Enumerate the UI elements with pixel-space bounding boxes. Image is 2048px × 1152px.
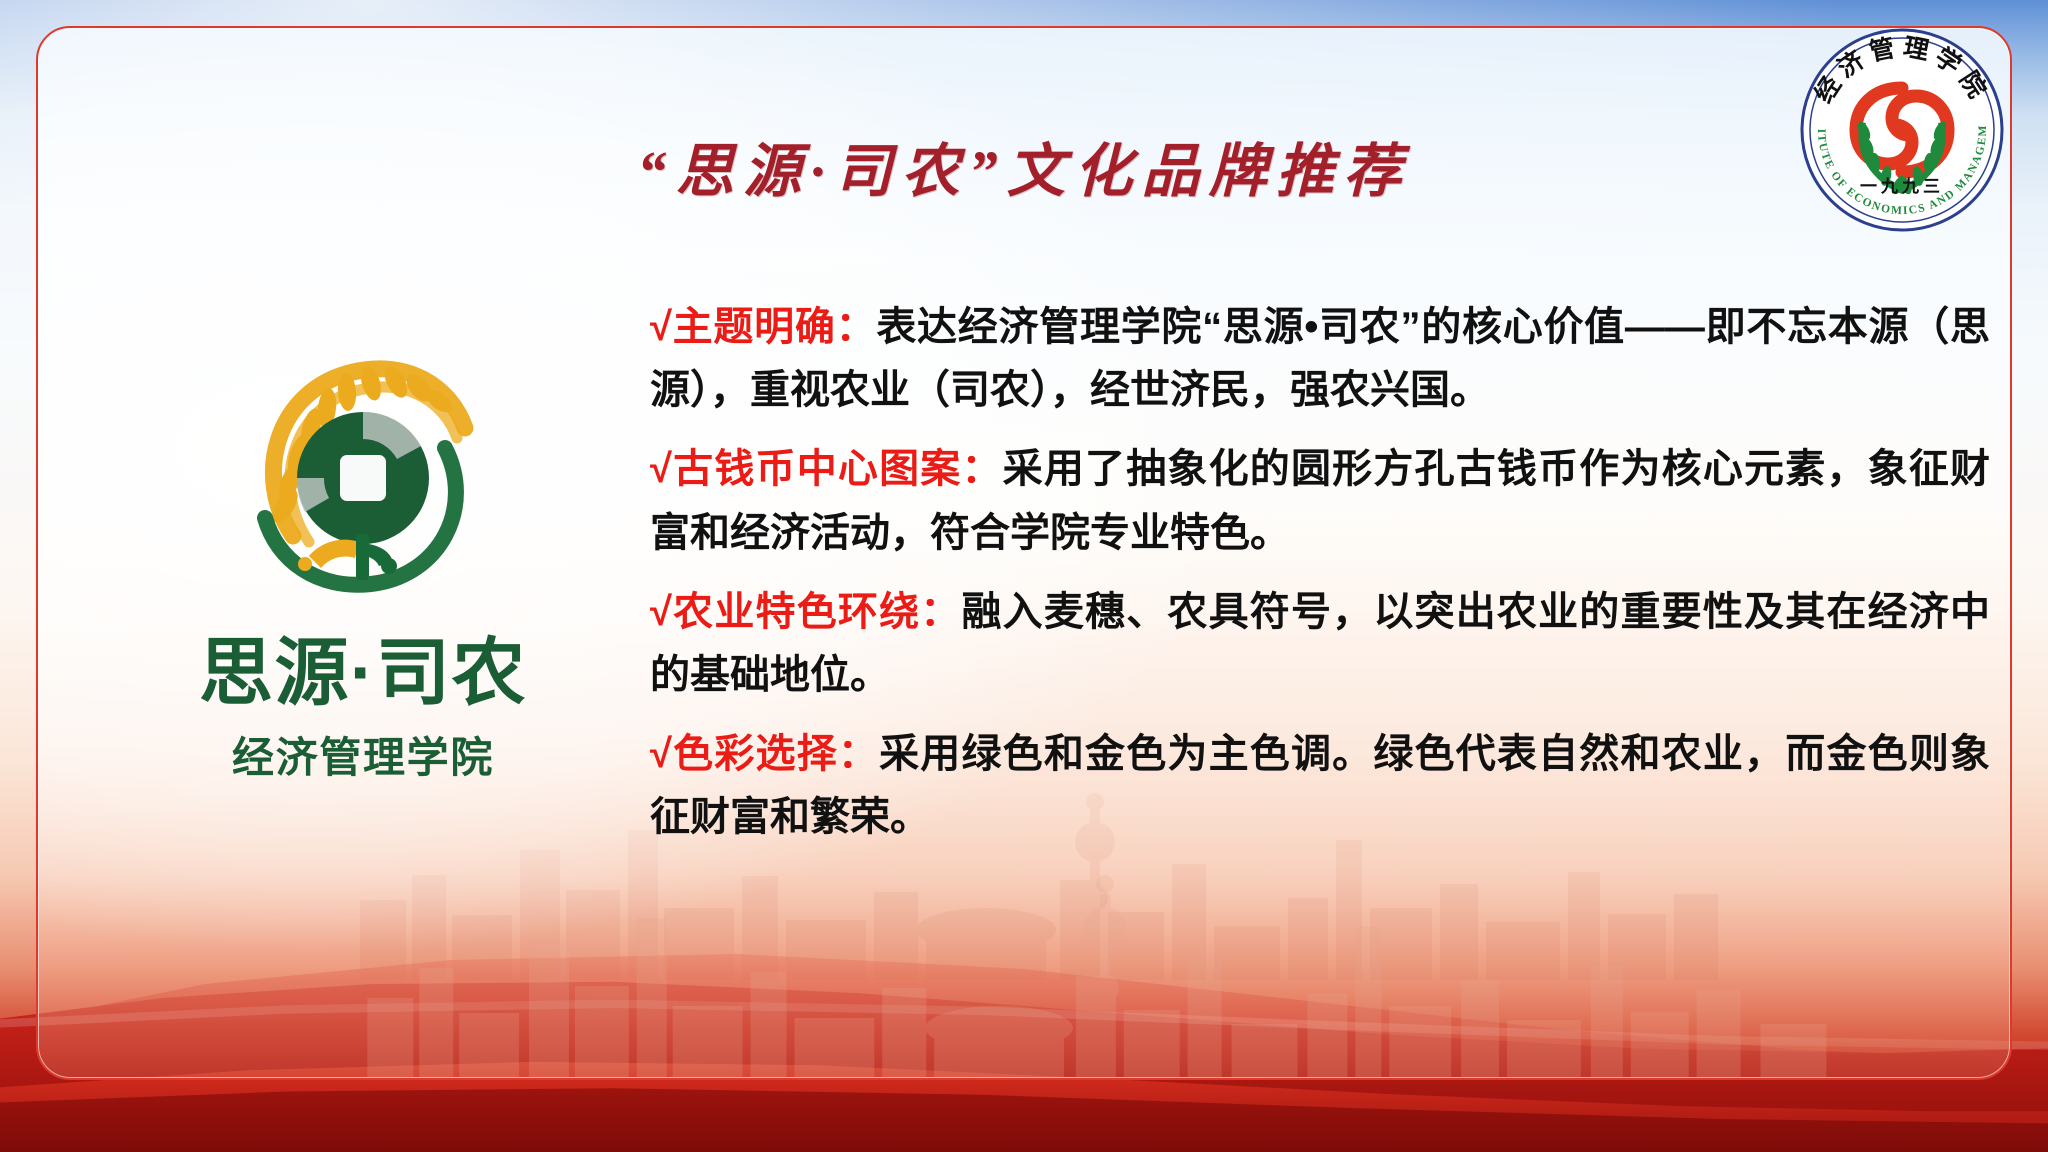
point-item: √色彩选择：采用绿色和金色为主色调。绿色代表自然和农业，而金色则象征财富和繁荣。 — [650, 723, 1990, 849]
logo-title: 思源·司农 — [148, 634, 578, 712]
check-icon: √ — [650, 305, 672, 349]
slide-root: “思源·司农”文化品牌推荐 — [0, 0, 2048, 1152]
brand-logo-block: 思源·司农 经济管理学院 — [148, 328, 578, 785]
point-keyword: 色彩选择： — [672, 732, 879, 776]
siyuan-sinong-emblem-icon — [213, 328, 513, 628]
point-keyword: 农业特色环绕： — [672, 590, 962, 634]
point-item: √主题明确：表达经济管理学院“思源•司农”的核心价值——即不忘本源（思源），重视… — [650, 296, 1990, 422]
check-icon: √ — [650, 732, 672, 776]
check-icon: √ — [650, 447, 672, 491]
logo-subtitle: 经济管理学院 — [148, 724, 578, 785]
point-keyword: 古钱币中心图案： — [672, 447, 1003, 491]
city-skyline-card — [38, 848, 2010, 1078]
points-list: √主题明确：表达经济管理学院“思源•司农”的核心价值——即不忘本源（思源），重视… — [650, 296, 1990, 866]
seal-year: 一九九三 — [1860, 177, 1944, 196]
point-item: √农业特色环绕：融入麦穗、农具符号，以突出农业的重要性及其在经济中的基础地位。 — [650, 581, 1990, 707]
point-keyword: 主题明确： — [672, 305, 876, 349]
point-item: √古钱币中心图案：采用了抽象化的圆形方孔古钱币作为核心元素，象征财富和经济活动，… — [650, 438, 1990, 564]
institute-seal-icon: 经济管理学院 INSTITUTE OF ECONOMICS AND MANAGE… — [1798, 26, 2006, 234]
page-title: “思源·司农”文化品牌推荐 — [38, 124, 2010, 208]
content-card: “思源·司农”文化品牌推荐 — [36, 26, 2012, 1080]
check-icon: √ — [650, 590, 672, 634]
